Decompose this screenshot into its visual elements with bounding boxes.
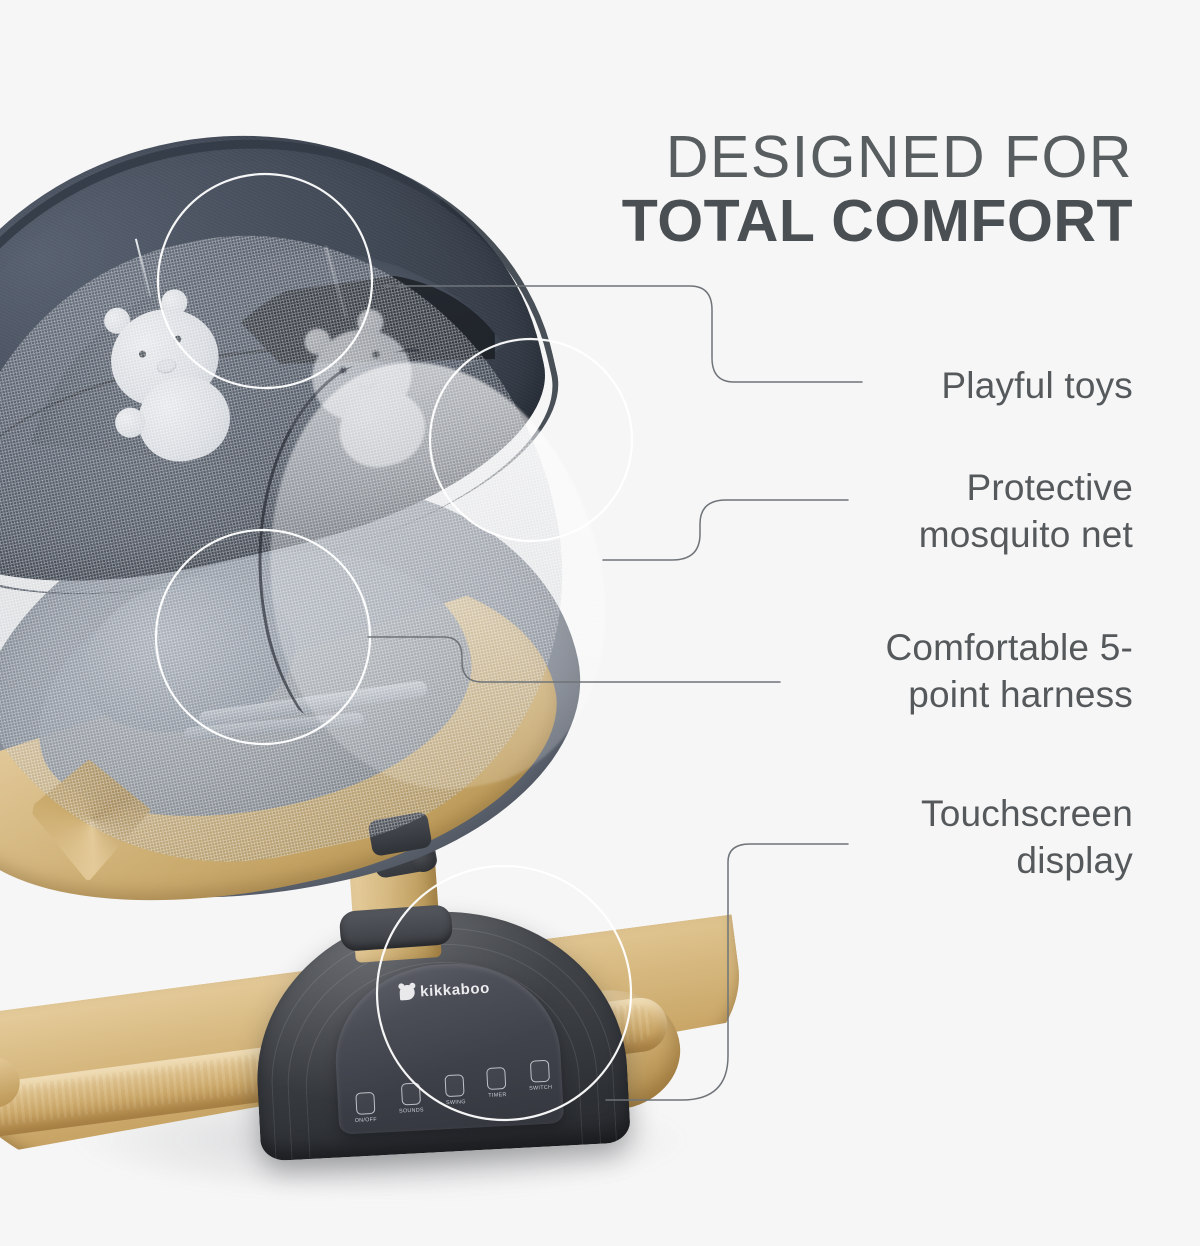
callout-label-playful-toys: Playful toys bbox=[713, 362, 1133, 409]
infographic-canvas: kikkaboo ON/OFF SOUNDS SWING TIMER bbox=[0, 0, 1200, 1200]
sounds-key-icon bbox=[400, 1083, 420, 1106]
brand-name: kikkaboo bbox=[420, 980, 491, 1001]
callout-label-mosquito-net: Protective mosquito net bbox=[713, 464, 1133, 558]
callout-label-line: Protective bbox=[713, 464, 1133, 511]
timer-key-icon bbox=[487, 1067, 507, 1090]
callout-label-line: Comfortable 5- bbox=[713, 624, 1133, 671]
brand-logo: kikkaboo bbox=[399, 980, 491, 1002]
callout-label-line: point harness bbox=[713, 671, 1133, 718]
control-button-timer[interactable]: TIMER bbox=[487, 1067, 508, 1099]
page-title: DESIGNED FOR TOTAL COMFORT bbox=[622, 126, 1133, 254]
title-line-2: TOTAL COMFORT bbox=[622, 188, 1133, 254]
callout-label-harness: Comfortable 5- point harness bbox=[713, 624, 1133, 718]
control-button-swing[interactable]: SWING bbox=[445, 1074, 466, 1106]
title-line-1: DESIGNED FOR bbox=[622, 126, 1133, 188]
callout-label-line: Touchscreen bbox=[713, 790, 1133, 837]
control-button-onoff[interactable]: ON/OFF bbox=[353, 1092, 377, 1124]
control-button-row: ON/OFF SOUNDS SWING TIMER SWITCH bbox=[352, 1067, 552, 1108]
callout-label-touchscreen: Touchscreen display bbox=[713, 790, 1133, 884]
control-button-label: SOUNDS bbox=[399, 1107, 424, 1114]
callout-label-line: display bbox=[713, 837, 1133, 884]
swing-key-icon bbox=[445, 1074, 465, 1097]
control-button-label: SWITCH bbox=[529, 1085, 552, 1092]
kikkaboo-bear-icon bbox=[399, 985, 415, 1001]
post-collar bbox=[339, 904, 454, 952]
callout-label-line: mosquito net bbox=[713, 511, 1133, 558]
onoff-key-icon bbox=[355, 1092, 375, 1115]
control-button-label: ON/OFF bbox=[355, 1117, 377, 1124]
control-button-label: TIMER bbox=[488, 1092, 507, 1099]
callout-label-line: Playful toys bbox=[713, 362, 1133, 409]
control-button-switch[interactable]: SWITCH bbox=[528, 1060, 553, 1092]
control-button-sounds[interactable]: SOUNDS bbox=[398, 1082, 424, 1114]
control-button-label: SWING bbox=[446, 1099, 466, 1106]
switch-key-icon bbox=[530, 1060, 550, 1083]
